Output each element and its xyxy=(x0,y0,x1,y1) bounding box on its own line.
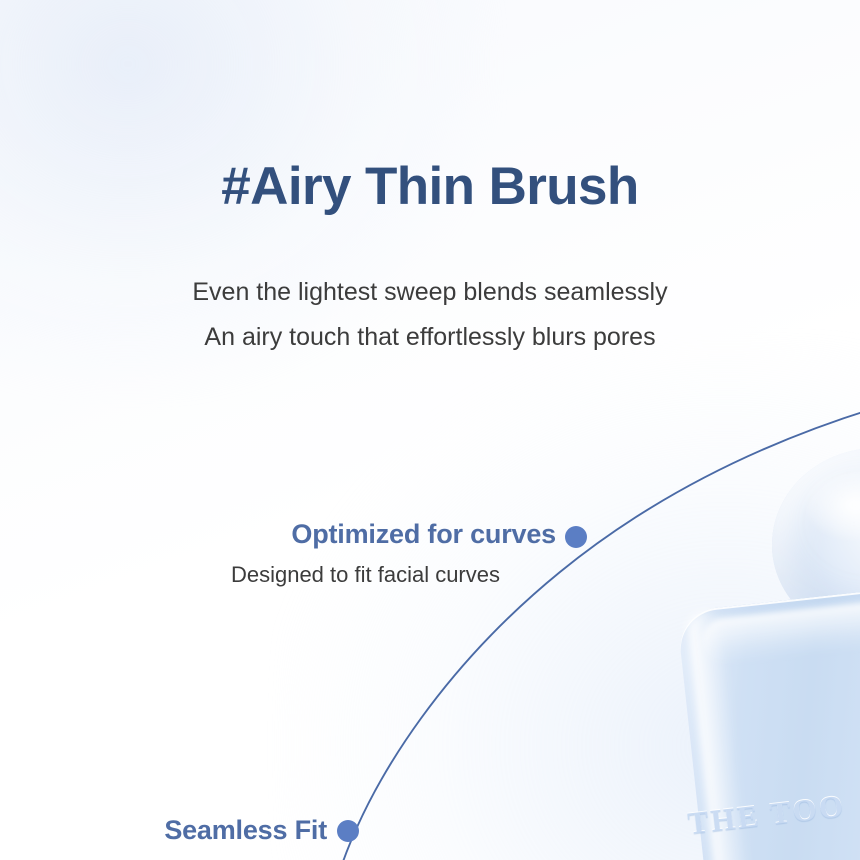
callout-connector xyxy=(0,0,860,860)
page-title: #Airy Thin Brush xyxy=(0,158,860,215)
subtitle-line-2: An airy touch that effortlessly blurs po… xyxy=(0,315,860,360)
callout-optimized-for-curves: Optimized for curves Designed to fit fac… xyxy=(0,518,556,588)
callout-dot-seamless-fit[interactable] xyxy=(337,820,359,842)
subtitle-line-1: Even the lightest sweep blends seamlessl… xyxy=(0,270,860,315)
callout-dot-optimized-for-curves[interactable] xyxy=(565,526,587,548)
subtitle-block: Even the lightest sweep blends seamlessl… xyxy=(0,270,860,359)
product-detail-page: THE TOO #Airy Thin Brush Even the lighte… xyxy=(0,0,860,860)
connector-curve-path xyxy=(338,409,860,860)
callout-title-seamless-fit: Seamless Fit xyxy=(0,815,327,846)
callout-description-optimized-for-curves: Designed to fit facial curves xyxy=(0,561,556,589)
callout-title-optimized-for-curves: Optimized for curves xyxy=(0,518,556,551)
